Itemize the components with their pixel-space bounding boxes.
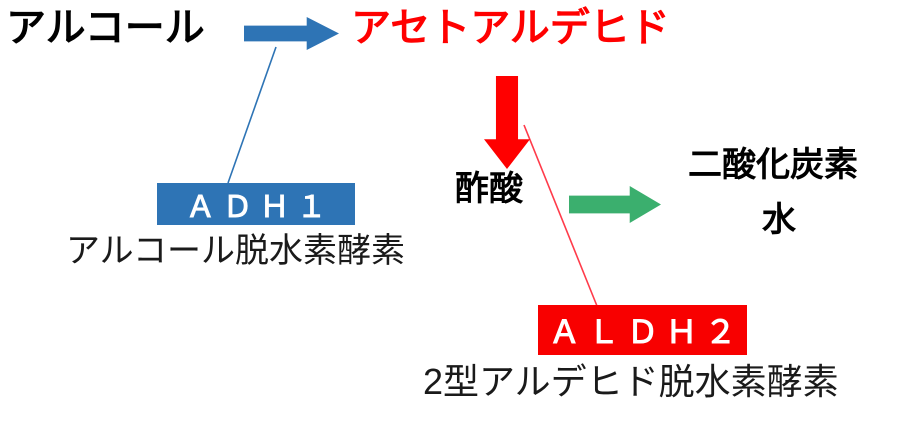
enzyme-box-adh1: ＡＤＨ１ [157,183,355,225]
node-label-water: 水 [762,203,796,237]
adh1-leader-line [228,47,276,183]
aldh2-leader-line [524,125,597,306]
node-label-alcohol: アルコール [6,8,205,48]
enzyme-caption-aldh2: 2型アルデヒド脱水素酵素 [423,364,839,400]
arrow-right-icon-alcohol-to-acetaldehyde [244,17,339,50]
enzyme-caption-adh1: アルコール脱水素酵素 [66,234,405,268]
node-label-acetic-acid: 酢酸 [455,172,523,206]
diagram-canvas: アルコール アセトアルデヒド ＡＤＨ１ アルコール脱水素酵素 酢酸 二酸化炭素 … [0,0,913,431]
node-label-carbon-dioxide: 二酸化炭素 [688,148,858,182]
node-label-acetaldehyde: アセトアルデヒド [351,8,670,48]
enzyme-box-aldh2: ＡＬＤＨ２ [538,305,747,355]
arrow-right-icon-acetate-to-co2 [569,186,661,223]
arrow-down-icon-acetaldehyde-to-acetate [484,76,530,169]
